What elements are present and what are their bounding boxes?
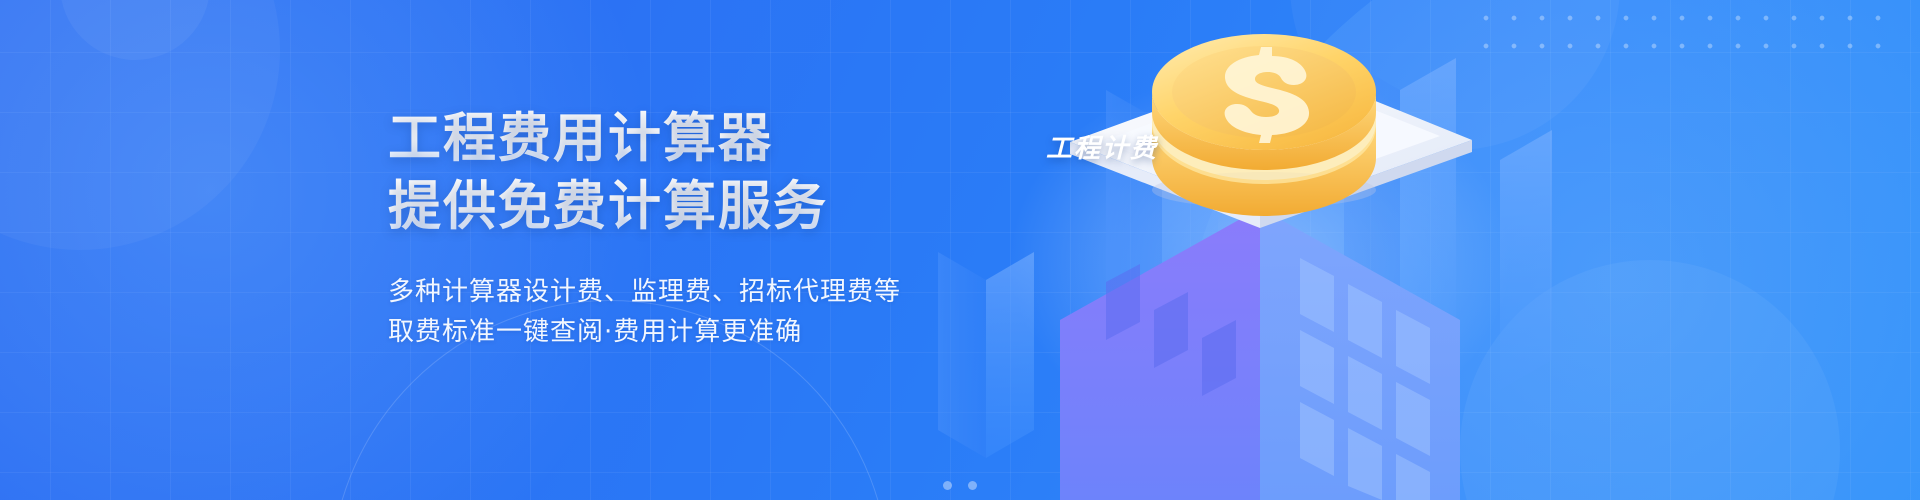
- hero-copy: 工程费用计算器 提供免费计算服务 多种计算器设计费、监理费、招标代理费等 取费标…: [388, 108, 901, 352]
- hero-headline-line1: 工程费用计算器: [388, 108, 901, 170]
- hero-subtitle-line2: 取费标准一键查阅·费用计算更准确: [388, 312, 901, 352]
- carousel-dot-1[interactable]: [943, 481, 952, 490]
- gold-coin-stack: [1152, 34, 1376, 216]
- hero-illustration: [900, 30, 1620, 500]
- illustration-tag-label: 工程计费: [1046, 128, 1158, 165]
- hero-banner: 工程计费 工程费用计算器 提供免费计算服务 多种计算器设计费、监理费、招标代理费…: [0, 0, 1920, 500]
- carousel-dot-2[interactable]: [968, 481, 977, 490]
- hero-subtitle-line1: 多种计算器设计费、监理费、招标代理费等: [388, 272, 901, 312]
- hero-headline-line2: 提供免费计算服务: [388, 176, 901, 238]
- carousel-dots: [0, 481, 1920, 490]
